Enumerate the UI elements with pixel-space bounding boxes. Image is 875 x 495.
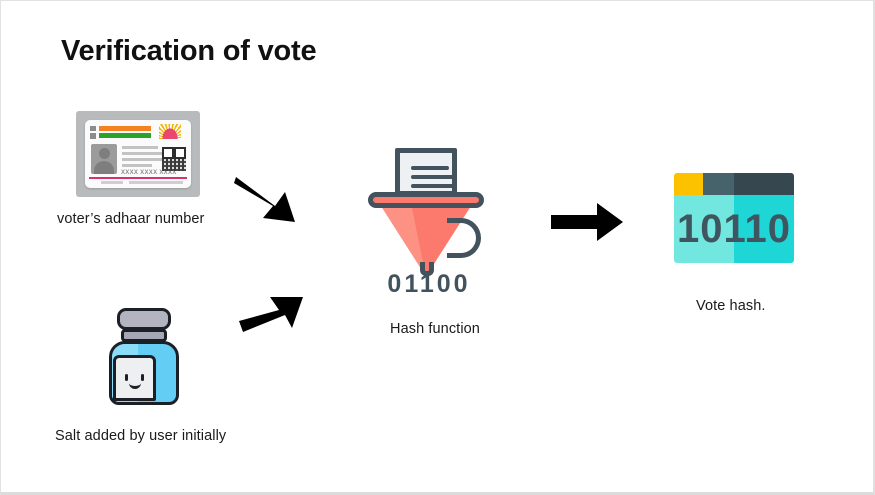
aadhaar-green-bar <box>99 133 151 138</box>
vote-hash-window-icon: 10110 <box>674 173 794 263</box>
qr-code-icon <box>162 147 186 171</box>
hash-function-caption: Hash function <box>390 321 480 337</box>
vote-hash-bar-dark <box>734 173 794 195</box>
funnel-handle <box>447 218 481 258</box>
arrow-salt-to-hash <box>237 289 315 337</box>
salt-shaker-label <box>113 355 156 401</box>
aadhaar-card-face: XXXX XXXX XXXX <box>85 120 191 188</box>
document-icon <box>395 148 457 196</box>
aadhaar-text-line <box>122 146 158 149</box>
funnel-rim <box>368 192 484 208</box>
vote-hash-bar-mid <box>703 173 734 195</box>
slide-canvas: Verification of vote XXXX XXXX XXXX vote… <box>0 0 875 495</box>
aadhaar-emblem-icon <box>90 126 96 139</box>
page-title: Verification of vote <box>61 35 316 68</box>
vote-hash-caption: Vote hash. <box>696 298 766 314</box>
aadhaar-photo-placeholder <box>91 144 117 174</box>
aadhaar-orange-bar <box>99 126 151 131</box>
aadhaar-card-icon: XXXX XXXX XXXX <box>76 111 200 197</box>
arrow-adhaar-to-hash <box>233 173 313 228</box>
arrow-hash-to-vote <box>549 201 625 243</box>
salt-face-eye-left <box>125 374 128 381</box>
vote-hash-bar-yellow <box>674 173 703 195</box>
aadhaar-logo-icon <box>159 124 181 139</box>
salt-face-eye-right <box>141 374 144 381</box>
vote-hash-title-bar <box>674 173 794 195</box>
vote-hash-binary-text: 10110 <box>674 203 794 255</box>
funnel-binary-text: 01100 <box>359 270 499 299</box>
salt-shaker-icon <box>99 307 189 407</box>
aadhaar-text-line <box>122 152 166 155</box>
salt-face-mouth <box>129 380 141 389</box>
salt-caption: Salt added by user initially <box>55 428 226 444</box>
aadhaar-text-line <box>122 158 162 161</box>
aadhaar-footer-line <box>129 181 183 184</box>
salt-shaker-cap <box>117 308 171 330</box>
document-text-line <box>411 184 455 188</box>
aadhaar-caption: voter’s adhaar number <box>57 211 204 227</box>
aadhaar-footer-line <box>101 181 123 184</box>
funnel-hash-icon: 01100 <box>359 144 499 299</box>
aadhaar-text-line <box>122 164 152 167</box>
salt-shaker-neck <box>121 329 167 342</box>
document-text-line <box>411 175 455 179</box>
aadhaar-divider <box>89 177 187 179</box>
document-text-line <box>411 166 449 170</box>
